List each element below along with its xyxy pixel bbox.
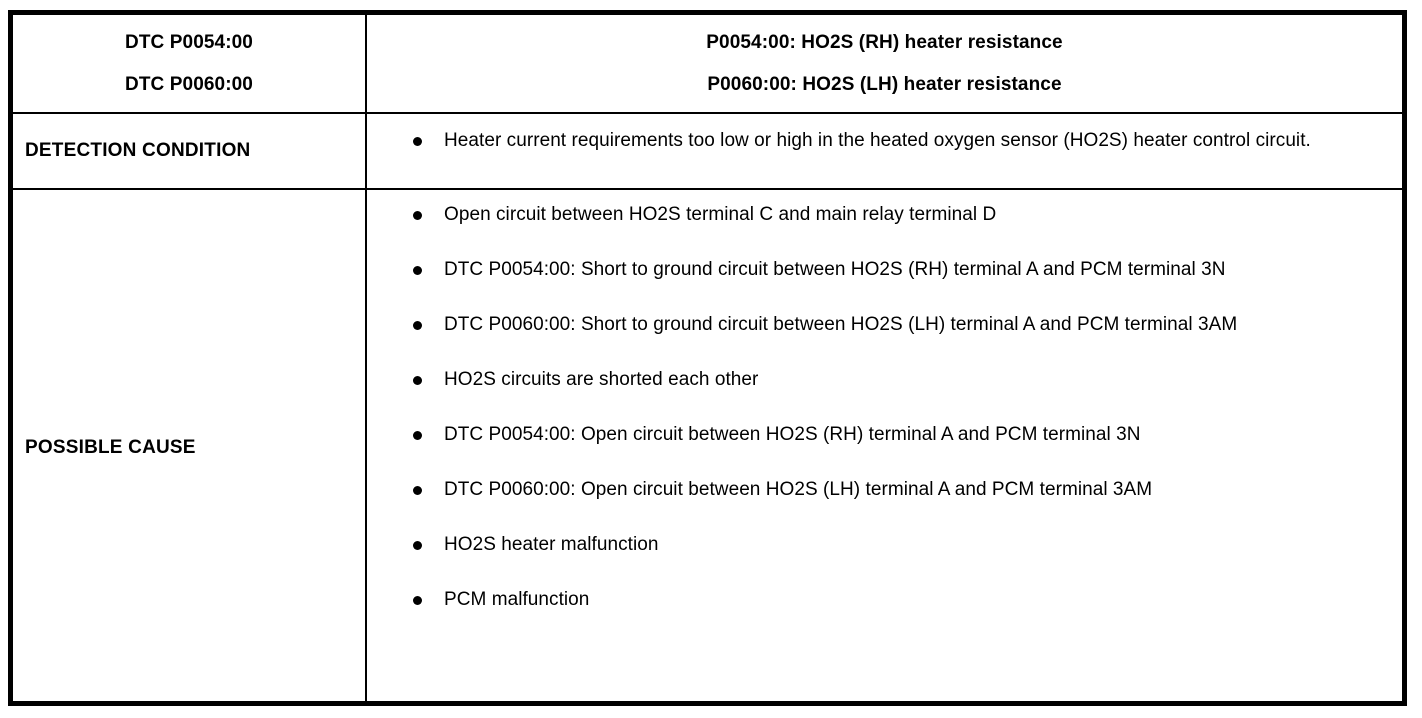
bullet-icon [413,321,422,330]
table-row-dtc-header: DTC P0054:00 DTC P0060:00 P0054:00: HO2S… [13,15,1402,112]
bullet-icon [413,211,422,220]
bullet-icon [413,376,422,385]
detection-condition-content-cell: Heater current requirements too low or h… [367,114,1402,188]
list-item-text: DTC P0054:00: Short to ground circuit be… [444,257,1370,282]
bullet-icon [413,431,422,440]
list-item-text: PCM malfunction [444,587,1370,612]
list-item: HO2S heater malfunction [367,532,1402,557]
list-item: DTC P0054:00: Open circuit between HO2S … [367,422,1402,447]
list-item: DTC P0060:00: Short to ground circuit be… [367,312,1402,337]
dtc-title-primary: P0054:00: HO2S (RH) heater resistance [706,32,1062,54]
list-item-text: DTC P0060:00: Short to ground circuit be… [444,312,1370,337]
dtc-diagnostic-table: DTC P0054:00 DTC P0060:00 P0054:00: HO2S… [8,10,1407,706]
list-item: HO2S circuits are shorted each other [367,367,1402,392]
list-item: DTC P0060:00: Open circuit between HO2S … [367,477,1402,502]
list-item: PCM malfunction [367,587,1402,612]
list-item-text: Heater current requirements too low or h… [444,128,1370,153]
bullet-icon [413,596,422,605]
table-row-detection-condition: DETECTION CONDITION Heater current requi… [13,112,1402,188]
detection-condition-label: DETECTION CONDITION [25,140,250,162]
dtc-code-secondary: DTC P0060:00 [125,74,253,96]
list-item: DTC P0054:00: Short to ground circuit be… [367,257,1402,282]
list-item-text: HO2S circuits are shorted each other [444,367,1370,392]
possible-cause-list: Open circuit between HO2S terminal C and… [367,190,1402,612]
dtc-title-secondary: P0060:00: HO2S (LH) heater resistance [707,74,1061,96]
list-item: Heater current requirements too low or h… [367,128,1402,153]
list-item: Open circuit between HO2S terminal C and… [367,202,1402,227]
page-root: DTC P0054:00 DTC P0060:00 P0054:00: HO2S… [0,0,1422,718]
possible-cause-label-cell: POSSIBLE CAUSE [13,190,367,701]
bullet-icon [413,266,422,275]
list-item-text: DTC P0054:00: Open circuit between HO2S … [444,422,1370,447]
dtc-code-cell: DTC P0054:00 DTC P0060:00 [13,15,367,112]
detection-condition-list: Heater current requirements too low or h… [367,114,1402,153]
list-item-text: HO2S heater malfunction [444,532,1370,557]
bullet-icon [413,486,422,495]
dtc-code-primary: DTC P0054:00 [125,32,253,54]
list-item-text: DTC P0060:00: Open circuit between HO2S … [444,477,1370,502]
detection-condition-label-cell: DETECTION CONDITION [13,114,367,188]
bullet-icon [413,541,422,550]
bullet-icon [413,137,422,146]
table-row-possible-cause: POSSIBLE CAUSE Open circuit between HO2S… [13,188,1402,701]
possible-cause-label: POSSIBLE CAUSE [25,437,196,459]
possible-cause-content-cell: Open circuit between HO2S terminal C and… [367,190,1402,701]
dtc-title-cell: P0054:00: HO2S (RH) heater resistance P0… [367,15,1402,112]
list-item-text: Open circuit between HO2S terminal C and… [444,202,1370,227]
